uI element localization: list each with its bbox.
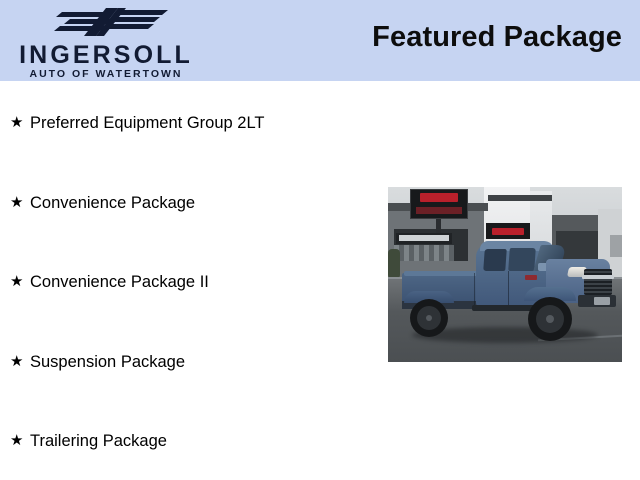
dealer-name: INGERSOLL xyxy=(6,42,206,69)
list-item: ★ Convenience Package II xyxy=(10,270,209,294)
photo-facade-gmc-logo-icon xyxy=(492,228,524,235)
truck-grille-chrome-bar xyxy=(582,275,614,279)
photo-ingersoll-banner-text xyxy=(399,235,449,241)
list-item: ★ Convenience Package xyxy=(10,191,195,215)
truck-front-hub xyxy=(546,315,554,323)
star-bullet-icon: ★ xyxy=(10,113,30,133)
photo-shrub xyxy=(388,249,400,279)
list-item: ★ Preferred Equipment Group 2LT xyxy=(10,111,264,135)
header-band: INGERSOLL AUTO OF WATERTOWN Featured Pac… xyxy=(0,0,640,81)
feature-label: Trailering Package xyxy=(30,431,167,451)
truck-front-window xyxy=(508,248,536,271)
feature-label: Suspension Package xyxy=(30,352,185,372)
feature-label: Preferred Equipment Group 2LT xyxy=(30,113,264,133)
dealer-logo: INGERSOLL AUTO OF WATERTOWN xyxy=(6,2,206,80)
star-bullet-icon: ★ xyxy=(10,352,30,372)
feature-label: Convenience Package xyxy=(30,193,195,213)
list-item: ★ Trailering Package xyxy=(10,429,167,453)
wing-speed-emblem-icon xyxy=(48,4,174,40)
featured-package-slide: INGERSOLL AUTO OF WATERTOWN Featured Pac… xyxy=(0,0,640,480)
photo-flag-row xyxy=(394,245,454,261)
truck-license-plate xyxy=(594,297,610,305)
photo-pylon-gmc-logo-icon xyxy=(420,193,458,202)
vehicle-photo xyxy=(388,187,622,362)
star-bullet-icon: ★ xyxy=(10,193,30,213)
feature-label: Convenience Package II xyxy=(30,272,209,292)
truck-rear-hub xyxy=(426,315,432,321)
photo-window-far xyxy=(610,235,622,257)
star-bullet-icon: ★ xyxy=(10,431,30,451)
photo-canopy-right xyxy=(488,195,552,201)
truck-door-seam-front xyxy=(508,271,509,305)
truck-door-seam-rear xyxy=(474,273,475,305)
list-item: ★ Suspension Package xyxy=(10,350,185,374)
photo-pylon-dealer-text xyxy=(416,207,462,214)
star-bullet-icon: ★ xyxy=(10,272,30,292)
dealer-tagline: AUTO OF WATERTOWN xyxy=(6,68,206,80)
truck-rear-window xyxy=(483,249,507,271)
page-title: Featured Package xyxy=(372,21,622,54)
truck-trim-badge xyxy=(525,275,537,280)
truck-grille xyxy=(584,269,612,295)
